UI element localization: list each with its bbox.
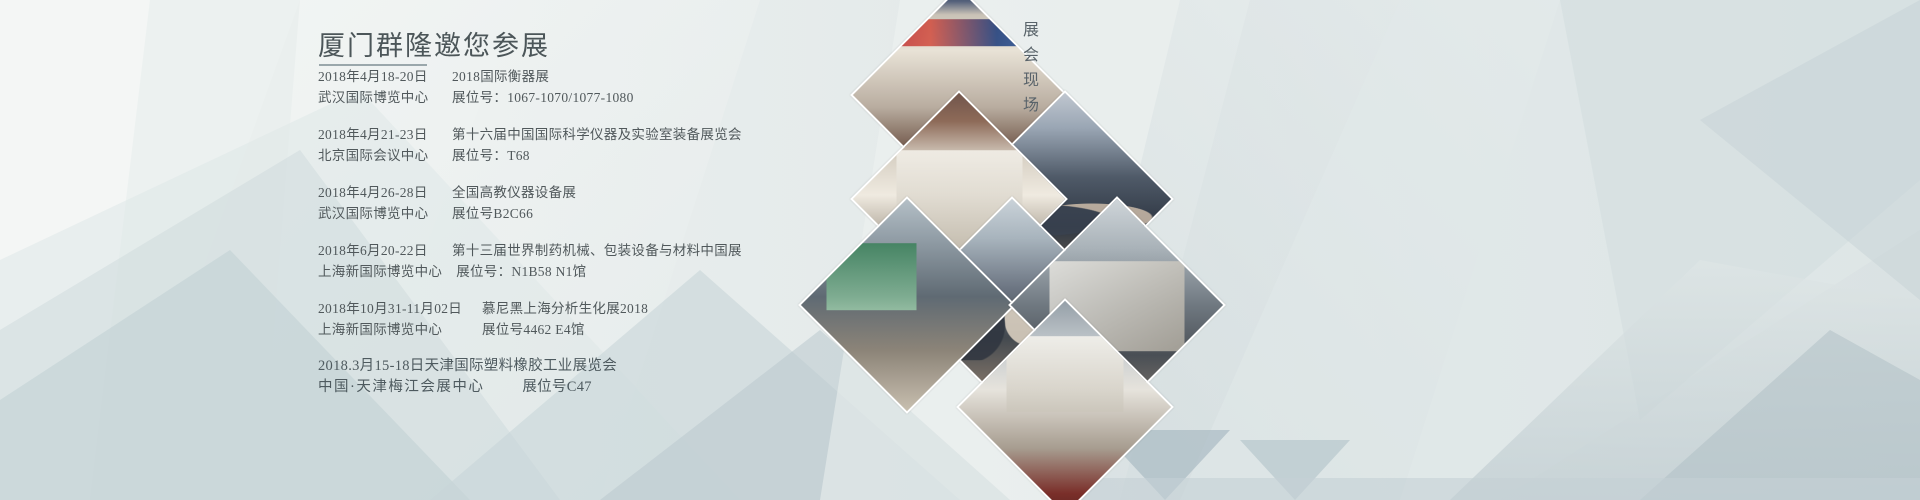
list-item: 2018年4月18-20日2018国际衡器展 武汉国际博览中心展位号：1067-…: [318, 66, 878, 108]
event-booth: 展位号C47: [484, 377, 591, 398]
event-date: 2018年4月26-28日: [318, 182, 438, 203]
event-venue: 中国·天津梅江会展中心: [318, 377, 484, 398]
vertical-section-label: 展 会 现 场: [1022, 18, 1042, 118]
event-name: 全国高教仪器设备展: [438, 182, 576, 203]
exhibition-banner: 厦门群隆邀您参展 2018年4月18-20日2018国际衡器展 武汉国际博览中心…: [0, 0, 1920, 500]
text-column: 厦门群隆邀您参展 2018年4月18-20日2018国际衡器展 武汉国际博览中心…: [0, 0, 900, 500]
event-date: 2018年4月18-20日: [318, 66, 438, 87]
event-venue: 上海新国际博览中心: [318, 261, 442, 282]
event-date: 2018年6月20-22日: [318, 240, 438, 261]
event-name: 慕尼黑上海分析生化展2018: [468, 298, 648, 319]
list-item: 2018年10月31-11月02日慕尼黑上海分析生化展2018 上海新国际博览中…: [318, 298, 878, 340]
event-booth: 展位号：T68: [438, 145, 530, 166]
event-booth: 展位号B2C66: [438, 203, 533, 224]
event-date: 2018年10月31-11月02日: [318, 298, 468, 319]
list-item: 2018年4月26-28日全国高教仪器设备展 武汉国际博览中心展位号B2C66: [318, 182, 878, 224]
event-venue: 武汉国际博览中心: [318, 203, 438, 224]
event-venue: 武汉国际博览中心: [318, 87, 438, 108]
vertical-char: 展: [1022, 18, 1042, 43]
event-name: 第十六届中国国际科学仪器及实验室装备展览会: [438, 124, 742, 145]
page-title: 厦门群隆邀您参展: [318, 24, 550, 63]
vertical-char: 场: [1022, 93, 1042, 118]
vertical-char: 现: [1022, 68, 1042, 93]
event-date: 2018年4月21-23日: [318, 124, 438, 145]
vertical-char: 会: [1022, 43, 1042, 68]
event-name: 第十三届世界制药机械、包装设备与材料中国展: [438, 240, 742, 261]
event-venue: 上海新国际博览中心: [318, 319, 468, 340]
event-name: 2018国际衡器展: [438, 66, 549, 87]
event-booth: 展位号：1067-1070/1077-1080: [438, 87, 634, 108]
event-booth: 展位号4462 E4馆: [468, 319, 585, 340]
list-item: 2018年6月20-22日第十三届世界制药机械、包装设备与材料中国展 上海新国际…: [318, 240, 878, 282]
list-item: 2018.3月15-18日天津国际塑料橡胶工业展览会 中国·天津梅江会展中心展位…: [318, 356, 878, 398]
event-date: 2018.3月15-18日天津国际塑料橡胶工业展览会: [318, 356, 617, 377]
event-list: 2018年4月18-20日2018国际衡器展 武汉国际博览中心展位号：1067-…: [318, 66, 878, 414]
list-item: 2018年4月21-23日第十六届中国国际科学仪器及实验室装备展览会 北京国际会…: [318, 124, 878, 166]
event-venue: 北京国际会议中心: [318, 145, 438, 166]
event-booth: 展位号：N1B58 N1馆: [442, 261, 586, 282]
